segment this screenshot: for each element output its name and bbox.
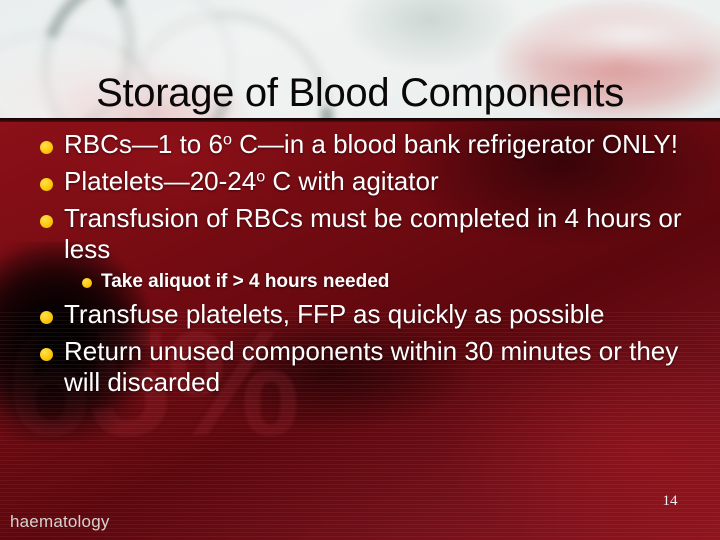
bullet-item: Platelets—20-24o C with agitator	[0, 163, 720, 200]
bullet-dot-icon	[40, 348, 53, 361]
bullet-dot-icon	[40, 215, 53, 228]
background-haze	[500, 0, 720, 70]
page-title: Storage of Blood Components	[0, 69, 720, 117]
bullet-item: Take aliquot if > 4 hours needed	[0, 268, 720, 296]
bullet-text: Transfusion of RBCs must be completed in…	[64, 203, 706, 265]
bullet-item: Transfuse platelets, FFP as quickly as p…	[0, 296, 720, 333]
degree-symbol: o	[223, 131, 232, 149]
degree-symbol: o	[256, 168, 265, 186]
bullet-text: Take aliquot if > 4 hours needed	[101, 270, 389, 294]
footer-label: haematology	[10, 512, 110, 532]
bullet-dot-icon	[40, 178, 53, 191]
body-band: 65% RBCs—1 to 6o C—in a blood bank refri…	[0, 122, 720, 540]
bullet-item: Transfusion of RBCs must be completed in…	[0, 200, 720, 268]
bullet-dot-icon	[40, 311, 53, 324]
bullet-dot-icon	[82, 278, 92, 288]
bullet-list: RBCs—1 to 6o C—in a blood bank refrigera…	[0, 126, 720, 401]
bullet-text: Transfuse platelets, FFP as quickly as p…	[64, 299, 604, 330]
bullet-text: Platelets—20-24o C with agitator	[64, 166, 439, 197]
bullet-item: RBCs—1 to 6o C—in a blood bank refrigera…	[0, 126, 720, 163]
bullet-item: Return unused components within 30 minut…	[0, 333, 720, 401]
page-number: 14	[650, 492, 690, 510]
presentation-slide: Storage of Blood Components 65% RBCs—1 t…	[0, 0, 720, 540]
bullet-text: RBCs—1 to 6o C—in a blood bank refrigera…	[64, 129, 678, 160]
bullet-text: Return unused components within 30 minut…	[64, 336, 706, 398]
bullet-dot-icon	[40, 141, 53, 154]
